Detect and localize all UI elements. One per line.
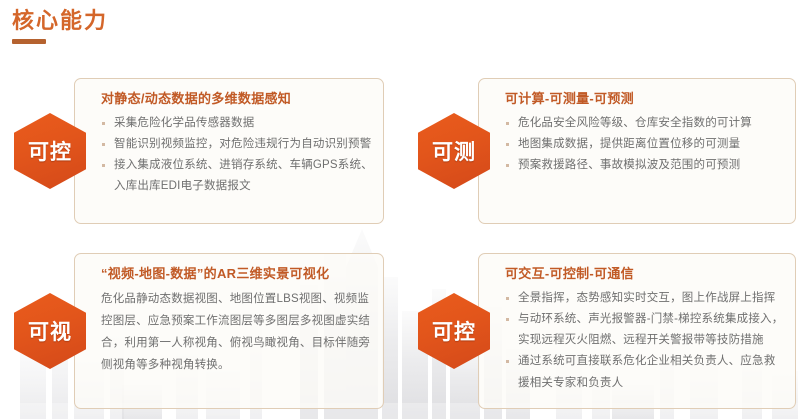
card-content: 对静态/动态数据的多维数据感知 采集危险化学品传感器数据 智能识别视频监控，对危… [101,90,373,198]
page-title-underline [12,39,46,44]
capability-card-4: 可交互-可控制-可通信 全景指挥，态势感知实时交互，图上作战屏上指挥 与动环系统… [412,253,796,409]
card-paragraph: 危化品静动态数据视图、地图位置LBS视图、视频监控图层、应急预案工作流图层等多图… [101,288,373,376]
card-content: “视频-地图-数据”的AR三维实景可视化 危化品静动态数据视图、地图位置LBS视… [101,265,373,376]
hexagon-badge: 可控 [14,113,86,189]
list-item: 接入集成液位系统、进销存系统、车辆GPS系统、入库出库EDI电子数据报文 [101,155,373,198]
hexagon-badge: 可视 [14,293,86,369]
card-panel: 对静态/动态数据的多维数据感知 采集危险化学品传感器数据 智能识别视频监控，对危… [74,78,384,224]
card-heading: “视频-地图-数据”的AR三维实景可视化 [101,265,373,283]
card-panel: 可计算-可测量-可预测 危化品安全风险等级、仓库安全指数的可计算 地图集成数据，… [478,78,796,224]
capability-card-1: 对静态/动态数据的多维数据感知 采集危险化学品传感器数据 智能识别视频监控，对危… [8,78,384,224]
list-item: 危化品安全风险等级、仓库安全指数的可计算 [505,113,785,134]
hexagon-badge-label: 可控 [418,293,490,369]
card-bullet-list: 采集危险化学品传感器数据 智能识别视频监控，对危险违规行为自动识别预警 接入集成… [101,113,373,198]
list-item: 智能识别视频监控，对危险违规行为自动识别预警 [101,134,373,155]
list-item: 采集危险化学品传感器数据 [101,113,373,134]
hexagon-badge-label: 可测 [418,113,490,189]
list-item: 预案救援路径、事故模拟波及范围的可预测 [505,155,785,176]
hexagon-badge-label: 可视 [14,293,86,369]
card-content: 可计算-可测量-可预测 危化品安全风险等级、仓库安全指数的可计算 地图集成数据，… [505,90,785,176]
list-item: 通过系统可直接联系危化企业相关负责人、应急救援相关专家和负责人 [505,351,785,394]
card-panel: “视频-地图-数据”的AR三维实景可视化 危化品静动态数据视图、地图位置LBS视… [74,253,384,409]
card-heading: 对静态/动态数据的多维数据感知 [101,90,373,108]
card-panel: 可交互-可控制-可通信 全景指挥，态势感知实时交互，图上作战屏上指挥 与动环系统… [478,253,796,409]
page-title-text: 核心能力 [12,8,108,33]
card-content: 可交互-可控制-可通信 全景指挥，态势感知实时交互，图上作战屏上指挥 与动环系统… [505,265,785,394]
capability-card-3: “视频-地图-数据”的AR三维实景可视化 危化品静动态数据视图、地图位置LBS视… [8,253,384,409]
card-bullet-list: 危化品安全风险等级、仓库安全指数的可计算 地图集成数据，提供距离位置位移的可测量… [505,113,785,177]
capability-card-2: 可计算-可测量-可预测 危化品安全风险等级、仓库安全指数的可计算 地图集成数据，… [412,78,796,224]
hexagon-badge: 可测 [418,113,490,189]
card-heading: 可交互-可控制-可通信 [505,265,785,283]
list-item: 地图集成数据，提供距离位置位移的可测量 [505,134,785,155]
list-item: 与动环系统、声光报警器-门禁-梯控系统集成接入，实现远程灭火阻燃、远程开关警报带… [505,309,785,352]
list-item: 全景指挥，态势感知实时交互，图上作战屏上指挥 [505,288,785,309]
hexagon-badge-label: 可控 [14,113,86,189]
card-heading: 可计算-可测量-可预测 [505,90,785,108]
hexagon-badge: 可控 [418,293,490,369]
page-title: 核心能力 [12,8,108,44]
card-bullet-list: 全景指挥，态势感知实时交互，图上作战屏上指挥 与动环系统、声光报警器-门禁-梯控… [505,288,785,394]
